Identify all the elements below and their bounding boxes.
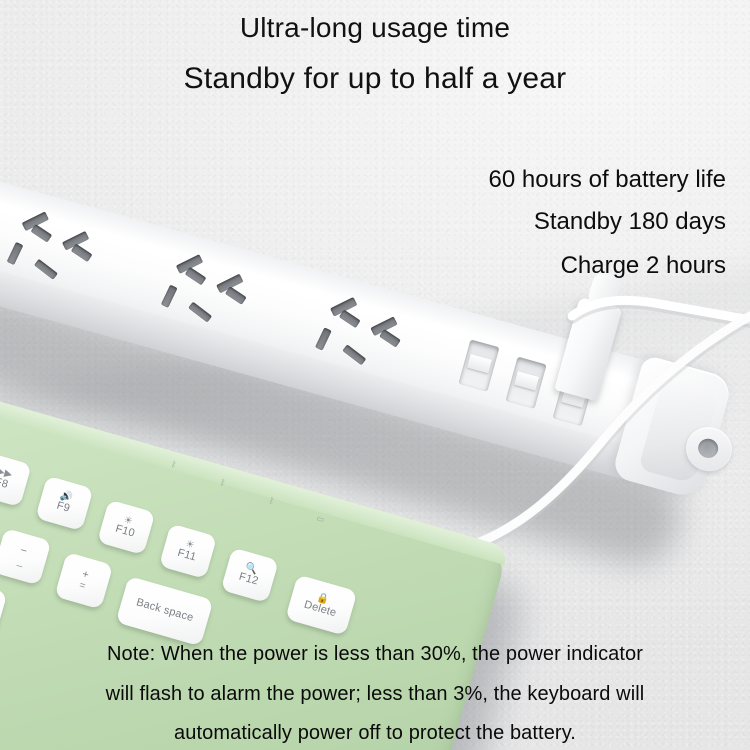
headline-primary: Ultra-long usage time bbox=[0, 12, 750, 44]
key-label: Delete bbox=[302, 600, 337, 620]
note-line-1: Note: When the power is less than 30%, t… bbox=[0, 643, 750, 666]
spec-charge-time: Charge 2 hours bbox=[561, 252, 726, 280]
headline-secondary: Standby for up to half a year bbox=[0, 62, 750, 96]
spec-standby: Standby 180 days bbox=[534, 208, 726, 236]
key-sublabel: = bbox=[78, 580, 87, 592]
key-label: F11 bbox=[176, 548, 197, 564]
note-line-3: automatically power off to protect the b… bbox=[0, 722, 750, 745]
key-label: F10 bbox=[114, 524, 136, 540]
spec-battery-life: 60 hours of battery life bbox=[489, 166, 726, 194]
key-sublabel: _ bbox=[16, 556, 24, 568]
key-label: Back space bbox=[135, 597, 195, 624]
key-label: F9 bbox=[55, 501, 71, 516]
product-image: ᛒ ᛒ ᛒ ▭ ⏯ F5 ◀ F6 ▶ F7 ▶▶ F8 🔊 F9 ☀ F10 bbox=[0, 0, 750, 750]
key-label: F8 bbox=[0, 477, 9, 492]
note-line-2: will flash to alarm the power; less than… bbox=[0, 683, 750, 706]
key-label: F12 bbox=[237, 572, 259, 588]
